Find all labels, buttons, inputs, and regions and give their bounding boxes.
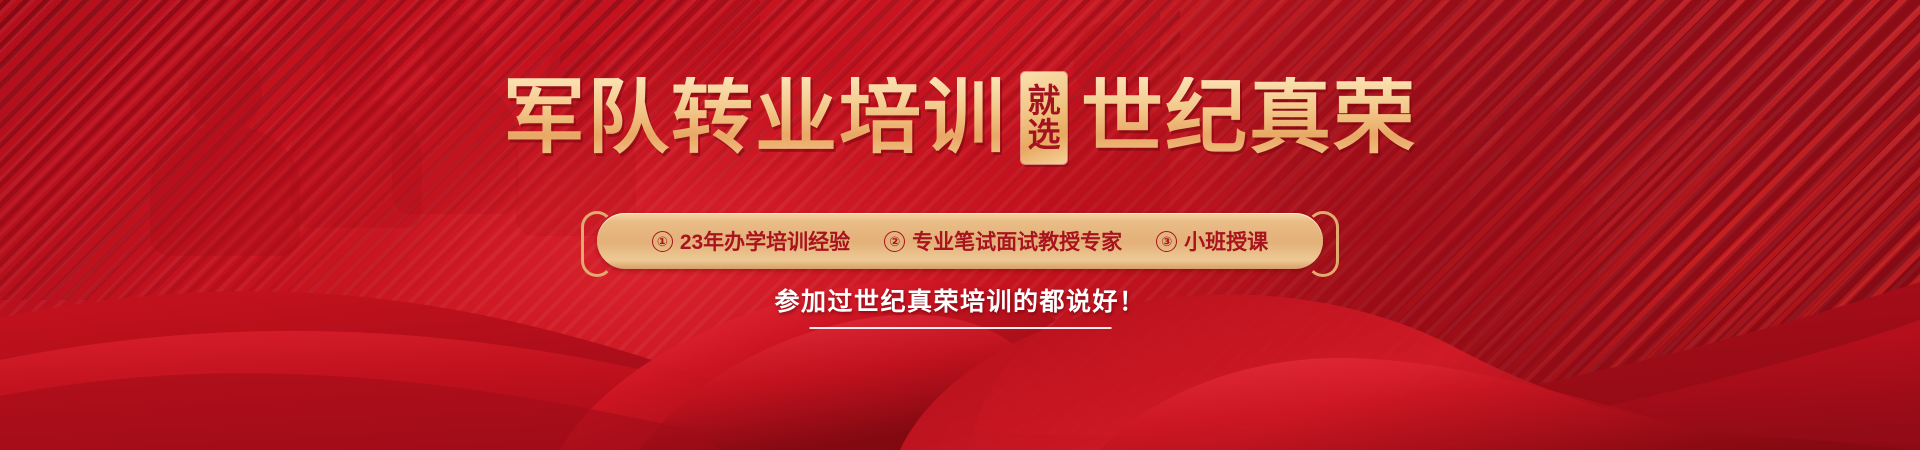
promo-banner: 军队转业培训 就 选 世纪真荣 ① 23年办学培训经验 ② 专业笔试面试教授专家… (0, 0, 1920, 450)
tagline-text: 参加过世纪真荣培训的都说好！ (774, 282, 1145, 318)
feature-item-2: ② 专业笔试面试教授专家 (884, 226, 1122, 256)
feature-number-1: ① (652, 231, 673, 252)
feature-number-3: ③ (1156, 231, 1177, 252)
feature-label-3: 小班授课 (1184, 226, 1268, 256)
tagline-group: 参加过世纪真荣培训的都说好！ (774, 282, 1145, 329)
feature-label-1: 23年办学培训经验 (680, 226, 850, 256)
tagline-underline (809, 327, 1111, 329)
feature-number-2: ② (884, 231, 905, 252)
feature-label-2: 专业笔试面试教授专家 (912, 226, 1122, 256)
jiuxuan-badge: 就 选 (1021, 72, 1067, 164)
features-pill-bar: ① 23年办学培训经验 ② 专业笔试面试教授专家 ③ 小班授课 (597, 213, 1323, 269)
badge-line-1: 就 (1028, 84, 1061, 118)
feature-item-1: ① 23年办学培训经验 (652, 226, 850, 256)
headline-left-text: 军队转业培训 (503, 77, 1021, 159)
headline-group: 军队转业培训 就 选 世纪真荣 (0, 72, 1920, 164)
badge-line-2: 选 (1028, 118, 1061, 152)
headline-right-text: 世纪真荣 (1067, 77, 1417, 159)
feature-item-3: ③ 小班授课 (1156, 226, 1268, 256)
